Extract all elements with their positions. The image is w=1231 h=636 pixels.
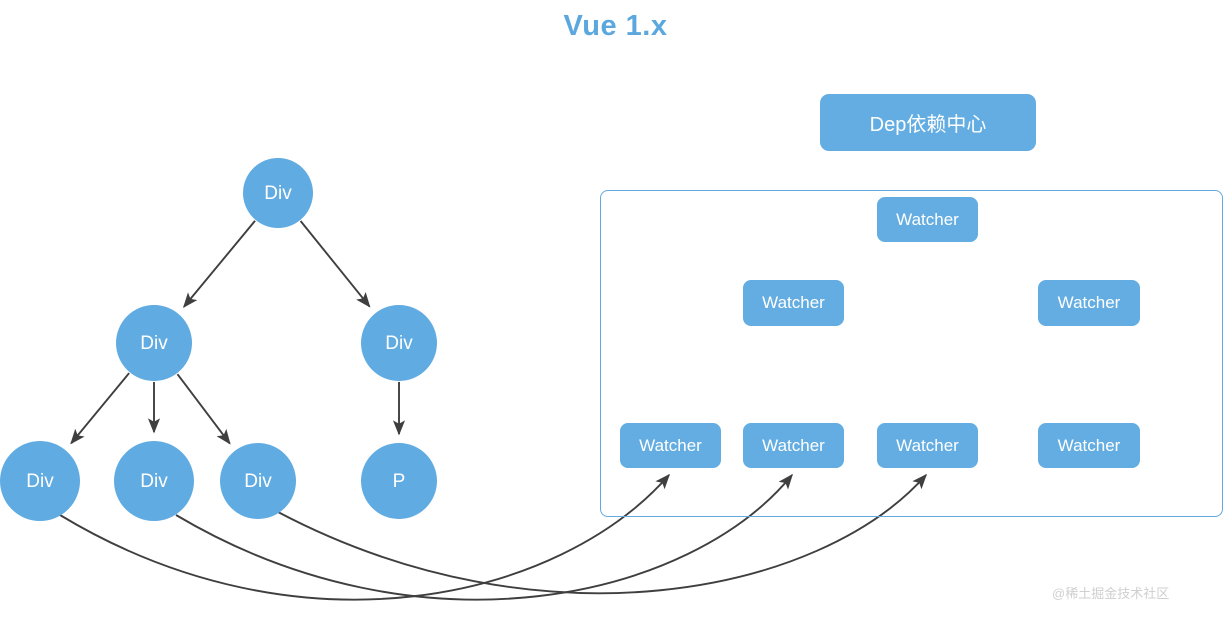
- tree-node-label: Div: [264, 184, 291, 203]
- tree-node-label: Div: [385, 334, 412, 353]
- page-title: Vue 1.x: [0, 10, 1231, 43]
- watcher-box[interactable]: Watcher: [1038, 280, 1140, 326]
- watcher-label: Watcher: [762, 436, 825, 456]
- watcher-label: Watcher: [1058, 293, 1121, 313]
- watcher-box[interactable]: Watcher: [877, 423, 978, 468]
- tree-node-label: Div: [244, 472, 271, 491]
- tree-edge: [184, 221, 255, 307]
- watcher-box[interactable]: Watcher: [743, 280, 844, 326]
- watcher-label: Watcher: [896, 436, 959, 456]
- diagram-canvas: Vue 1.x DivDivDivDivDivDivP Dep依赖中心 Watc…: [0, 0, 1231, 636]
- watcher-label: Watcher: [1058, 436, 1121, 456]
- watcher-label: Watcher: [896, 210, 959, 230]
- tree-node-label: P: [393, 472, 406, 491]
- tree-node-div[interactable]: Div: [0, 441, 80, 521]
- tree-node-label: Div: [140, 472, 167, 491]
- tree-edge: [71, 373, 129, 443]
- tree-node-label: Div: [26, 472, 53, 491]
- dep-center-box[interactable]: Dep依赖中心: [820, 94, 1036, 151]
- watermark: @稀土掘金技术社区: [1052, 583, 1169, 602]
- tree-node-div[interactable]: Div: [220, 443, 296, 519]
- watcher-label: Watcher: [639, 436, 702, 456]
- tree-edge: [301, 221, 370, 306]
- dep-center-label: Dep依赖中心: [870, 108, 987, 137]
- tree-edge: [177, 374, 229, 443]
- watcher-label: Watcher: [762, 293, 825, 313]
- tree-node-div[interactable]: Div: [361, 305, 437, 381]
- tree-node-p[interactable]: P: [361, 443, 437, 519]
- tree-node-div[interactable]: Div: [243, 158, 313, 228]
- watcher-box[interactable]: Watcher: [743, 423, 844, 468]
- tree-node-div[interactable]: Div: [116, 305, 192, 381]
- watcher-box[interactable]: Watcher: [1038, 423, 1140, 468]
- watcher-box[interactable]: Watcher: [620, 423, 721, 468]
- watcher-box[interactable]: Watcher: [877, 197, 978, 242]
- tree-node-label: Div: [140, 334, 167, 353]
- tree-node-div[interactable]: Div: [114, 441, 194, 521]
